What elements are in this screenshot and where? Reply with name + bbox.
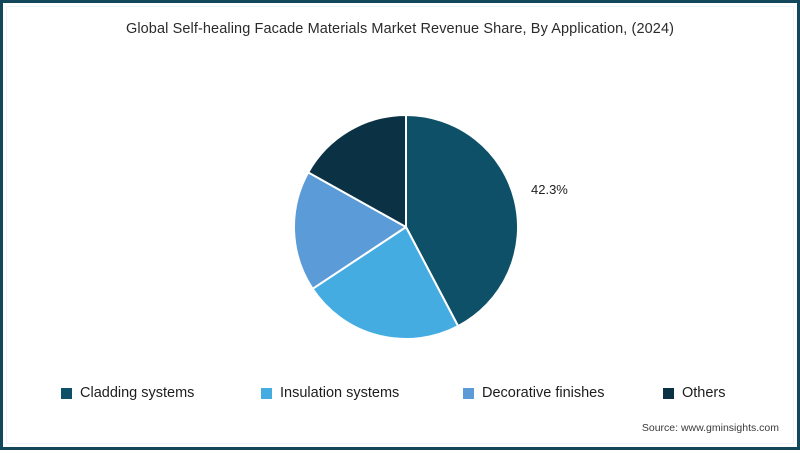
legend-item-insulation-systems[interactable]: Insulation systems	[261, 386, 463, 401]
legend-swatch-icon-cladding-systems	[61, 388, 72, 399]
legend-item-cladding-systems[interactable]: Cladding systems	[61, 386, 261, 401]
legend-label-cladding-systems: Cladding systems	[80, 386, 194, 401]
legend-item-others[interactable]: Others	[663, 386, 751, 401]
source-attribution: Source: www.gminsights.com	[642, 422, 779, 434]
legend-label-insulation-systems: Insulation systems	[280, 386, 399, 401]
legend-swatch-icon-others	[663, 388, 674, 399]
legend-item-decorative-finishes[interactable]: Decorative finishes	[463, 386, 663, 401]
legend-swatch-icon-insulation-systems	[261, 388, 272, 399]
legend-label-decorative-finishes: Decorative finishes	[482, 386, 605, 401]
legend-label-others: Others	[682, 386, 726, 401]
chart-figure: Global Self-healing Facade Materials Mar…	[0, 0, 800, 450]
legend-swatch-icon-decorative-finishes	[463, 388, 474, 399]
chart-title: Global Self-healing Facade Materials Mar…	[3, 21, 797, 37]
chart-legend: Cladding systems Insulation systems Deco…	[61, 382, 751, 404]
figure-inner-frame	[6, 6, 794, 444]
